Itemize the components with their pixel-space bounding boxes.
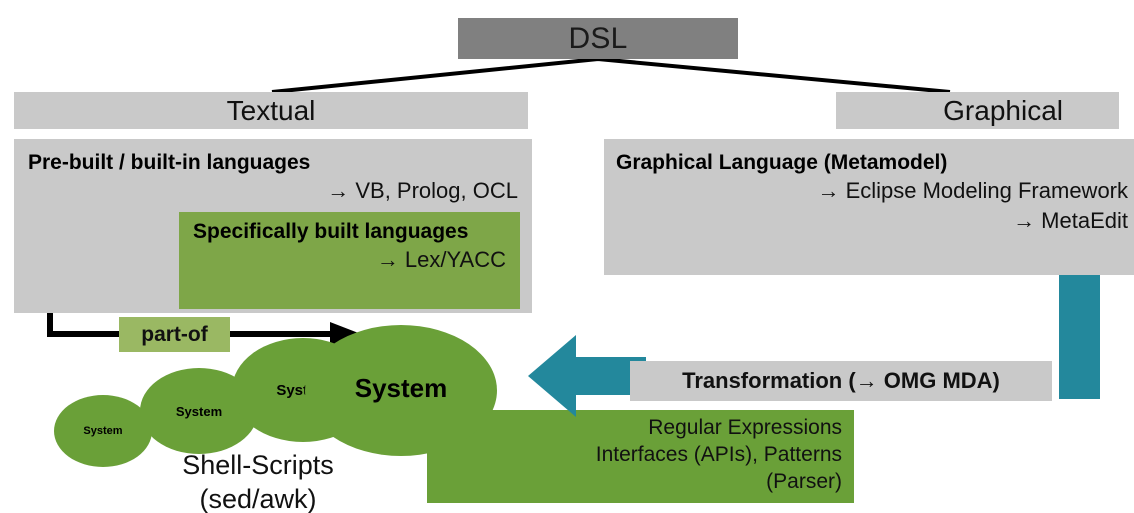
- specific-languages-box: Specifically built languages → Lex/YACC: [179, 212, 520, 309]
- teal-connector-bar: [1059, 275, 1100, 399]
- node-dsl-label: DSL: [569, 22, 628, 56]
- prebuilt-heading: Pre-built / built-in languages: [28, 149, 518, 176]
- transformation-box: Transformation (→ OMG MDA): [630, 361, 1052, 401]
- part-of-text: part-of: [141, 323, 208, 347]
- system-node-1-label: System: [83, 425, 122, 437]
- diagram-canvas: DSL Textual Graphical Pre-built / built-…: [0, 0, 1134, 513]
- left-arrow-icon: [528, 335, 646, 417]
- system-node-2-label: System: [176, 404, 222, 419]
- prebuilt-line-1: → VB, Prolog, OCL: [28, 176, 518, 206]
- transformation-label: Transformation (→ OMG MDA): [682, 368, 1000, 394]
- specific-line-1: → Lex/YACC: [193, 245, 506, 275]
- graphical-language-box: Graphical Language (Metamodel) → Eclipse…: [604, 139, 1134, 275]
- graphical-line-1: → Eclipse Modeling Framework: [616, 176, 1128, 206]
- implementation-line-3: (Parser): [427, 468, 842, 495]
- graphical-heading: Graphical Language (Metamodel): [616, 149, 1128, 176]
- system-node-4: System: [305, 325, 497, 456]
- node-textual: Textual: [14, 92, 528, 129]
- node-dsl: DSL: [458, 18, 738, 59]
- system-node-4-label: System: [355, 373, 448, 404]
- specific-heading: Specifically built languages: [193, 218, 506, 245]
- implementation-box: Regular Expressions Interfaces (APIs), P…: [427, 410, 854, 503]
- graphical-line-2: → MetaEdit: [616, 206, 1128, 236]
- shell-scripts-line-1: Shell-Scripts: [128, 448, 388, 482]
- part-of-label: part-of: [119, 317, 230, 352]
- node-graphical-label: Graphical: [943, 95, 1063, 127]
- implementation-line-1: Regular Expressions: [427, 414, 842, 441]
- implementation-line-2: Interfaces (APIs), Patterns: [427, 441, 842, 468]
- node-graphical: Graphical: [836, 92, 1119, 129]
- shell-scripts-line-2: (sed/awk): [128, 482, 388, 513]
- node-textual-label: Textual: [227, 95, 316, 127]
- shell-scripts-caption: Shell-Scripts (sed/awk): [128, 448, 388, 513]
